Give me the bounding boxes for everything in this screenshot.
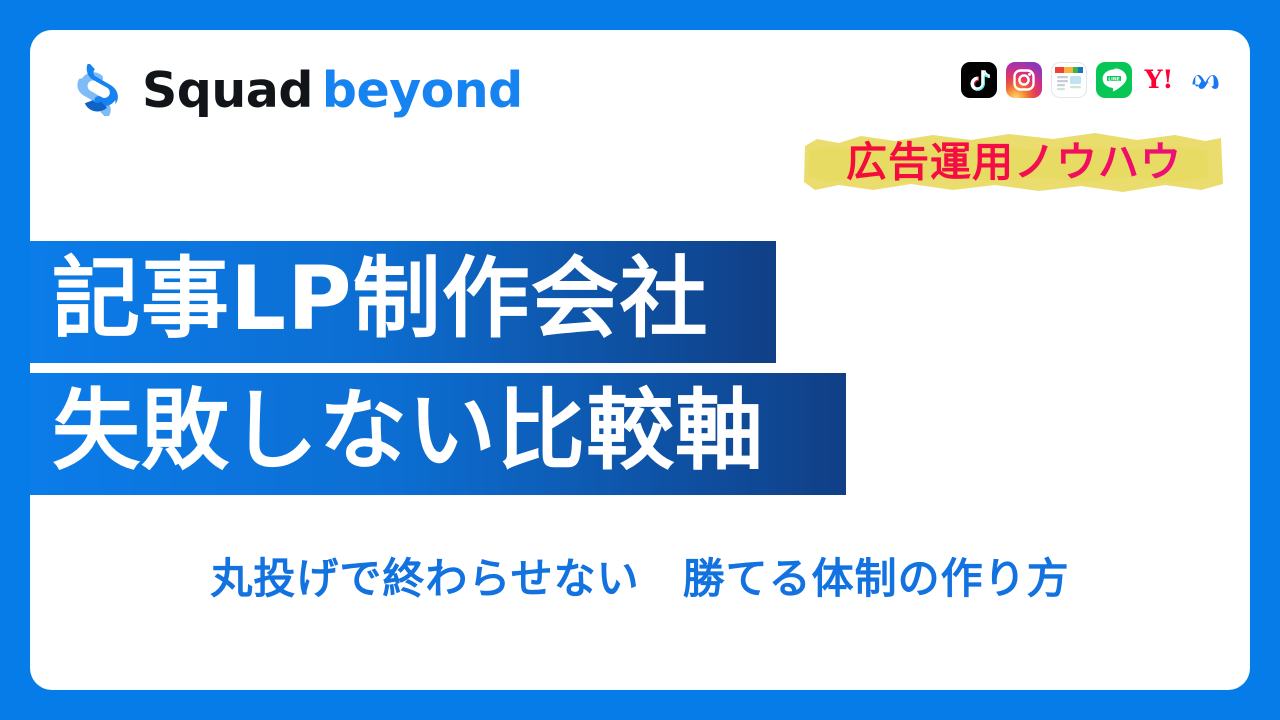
white-content-card: Squadbeyond [30,30,1250,690]
headline-line-1: 記事LP制作会社 [30,241,776,363]
brand-wordmark: Squadbeyond [142,66,523,115]
yahoo-icon: Y! [1141,62,1177,98]
subtitle-text: 丸投げで終わらせない 勝てる体制の作り方 [130,555,1150,603]
social-platform-icon-row: LINE Y! [961,59,1222,101]
instagram-icon [1006,62,1042,98]
line-icon: LINE [1096,62,1132,98]
brand-name-primary: Squad [142,62,313,119]
smartnews-icon [1051,62,1087,98]
brand-name-secondary: beyond [322,62,523,119]
svg-text:LINE: LINE [1108,76,1120,82]
headline-line-2: 失敗しない比較軸 [30,373,846,495]
svg-text:Y!: Y! [1144,65,1174,94]
category-badge-label: 広告運用ノウハウ [803,130,1225,196]
brand-logo[interactable]: Squadbeyond [70,57,523,123]
slide-canvas: Squadbeyond [0,0,1280,720]
meta-icon [1186,62,1222,98]
headline-block: 記事LP制作会社 失敗しない比較軸 [30,241,1250,495]
tiktok-icon [961,62,997,98]
category-badge: 広告運用ノウハウ [803,130,1225,196]
squad-beyond-swirl-logo-icon [70,64,128,116]
